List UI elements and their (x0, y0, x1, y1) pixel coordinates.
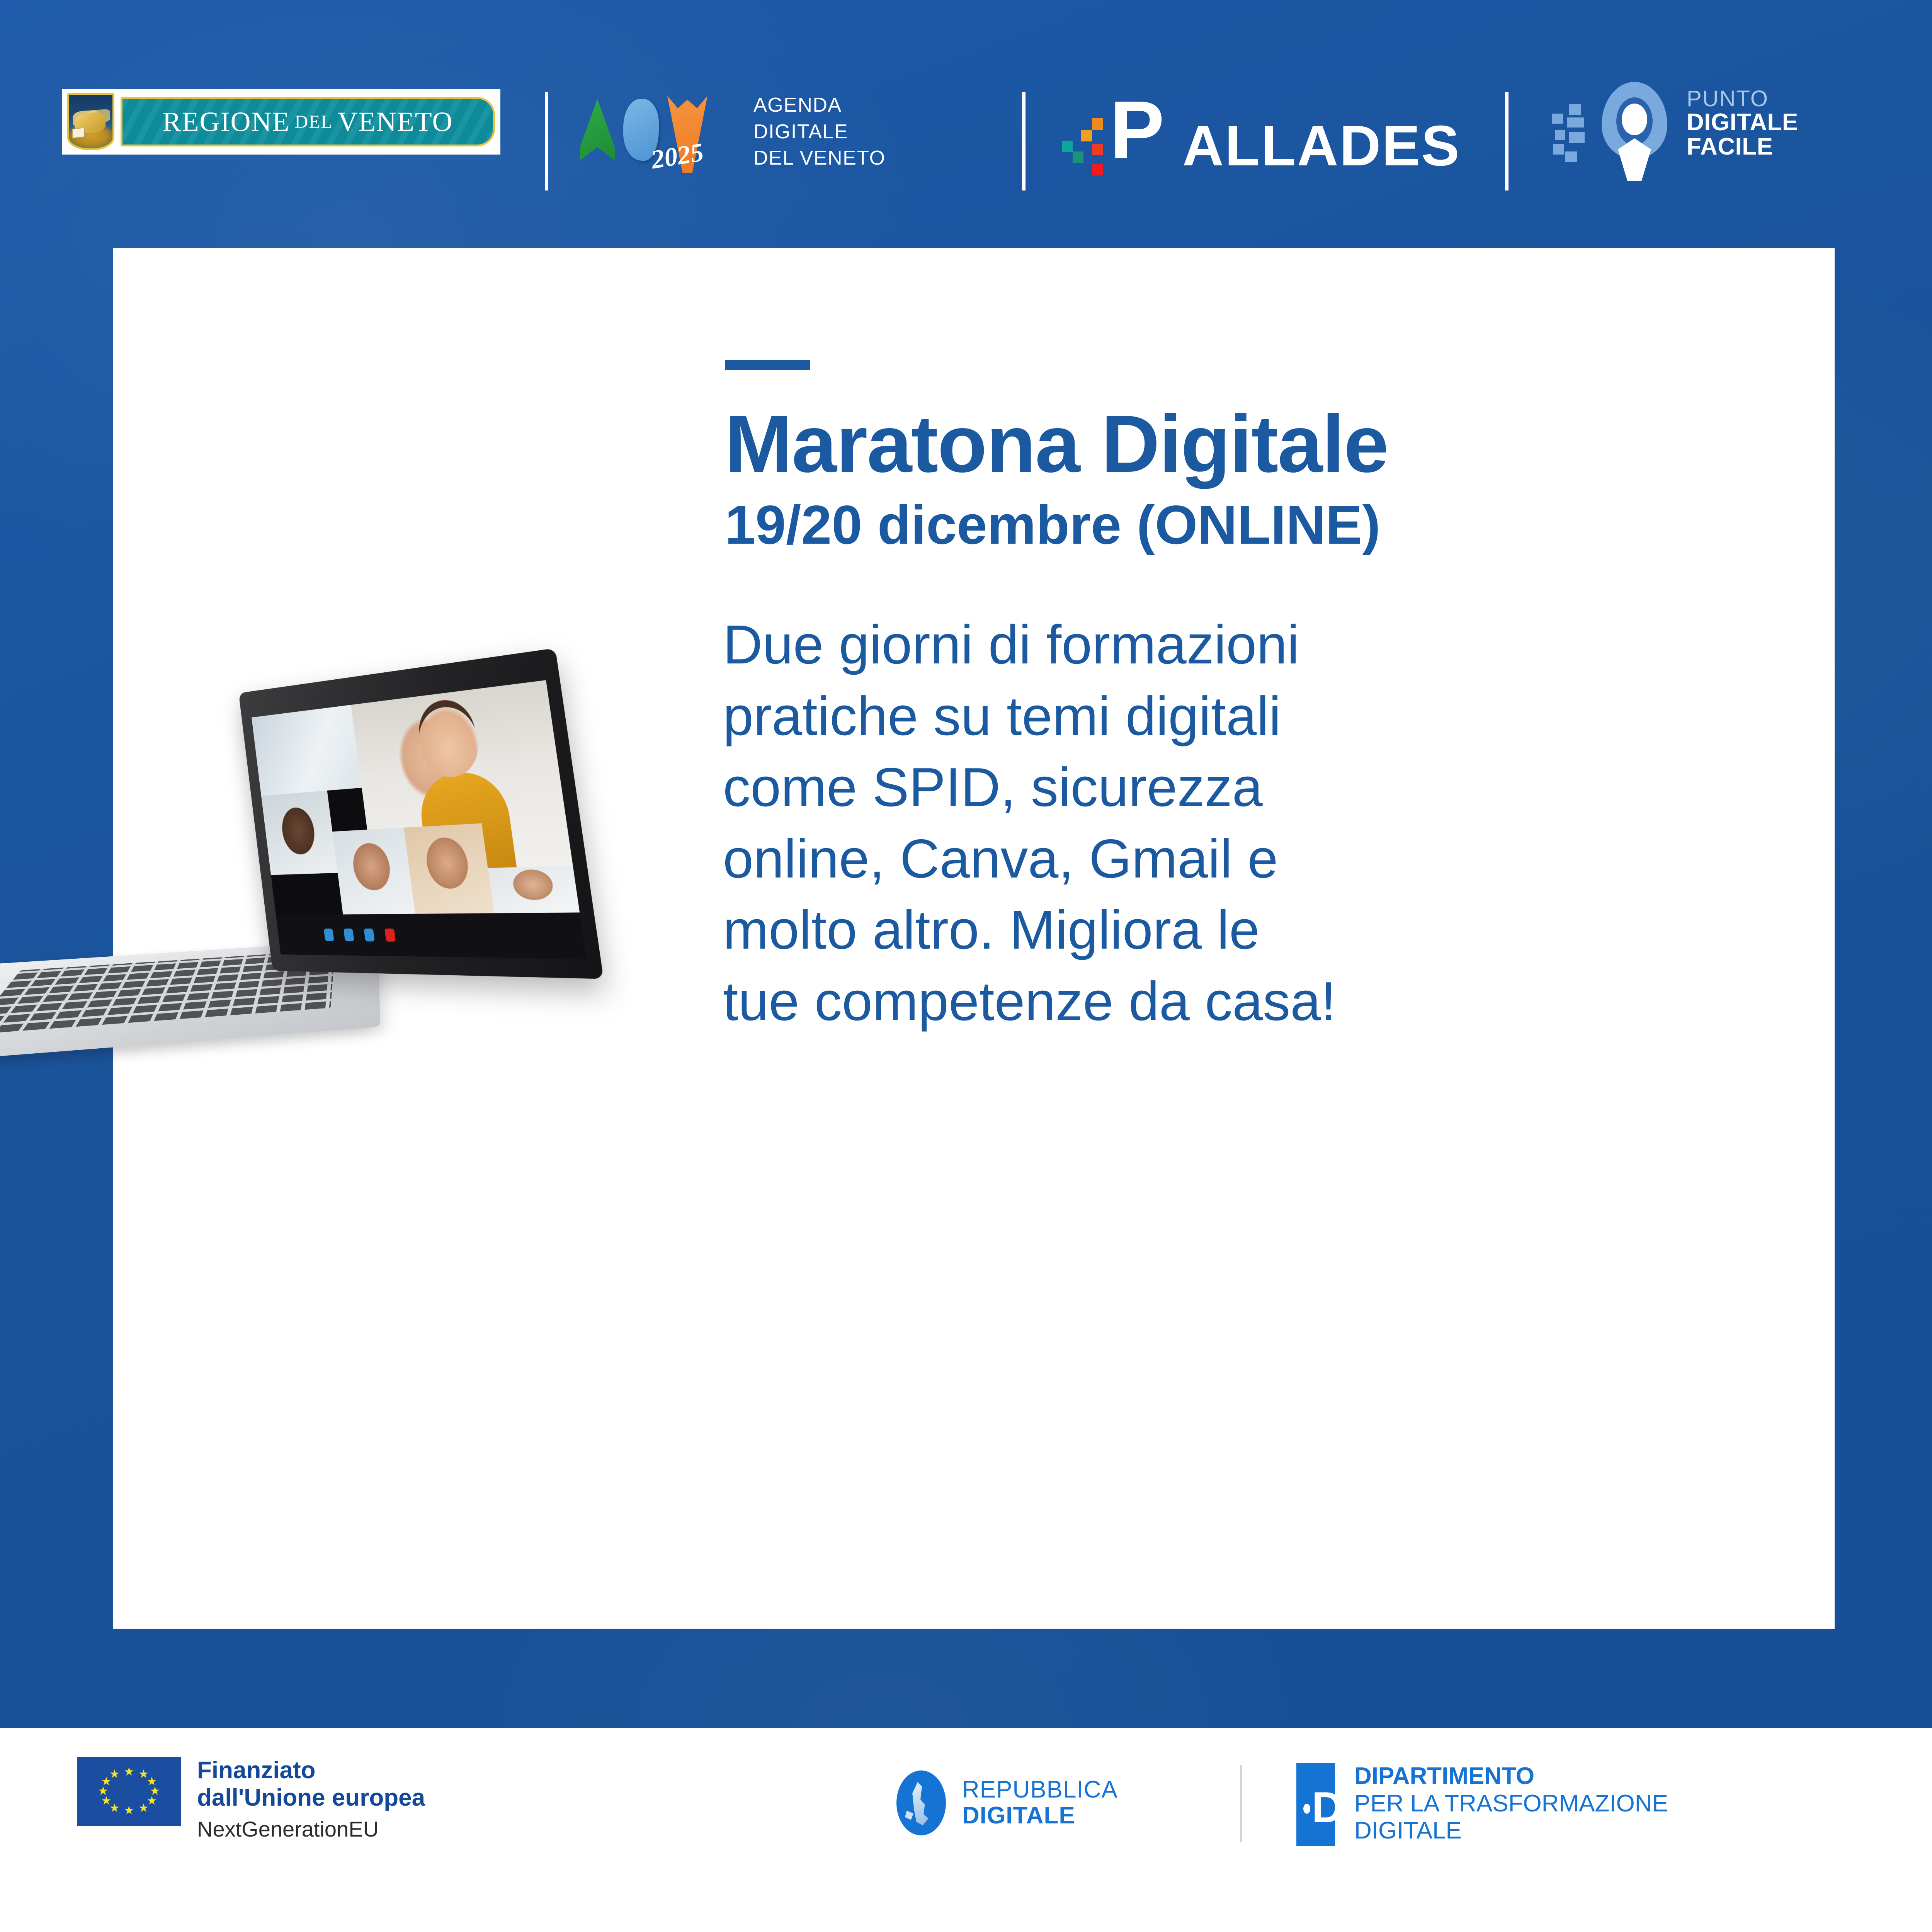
adv-mark-icons: 2025 (578, 90, 752, 164)
rd-line-2: DIGITALE (962, 1803, 1118, 1829)
video-camera-icon (344, 929, 354, 941)
eu-line-2: dall'Unione europea (197, 1784, 425, 1812)
dtd-line-2: PER LA TRASFORMAZIONE (1354, 1790, 1668, 1818)
adv-line-3: DEL VENETO (753, 145, 886, 172)
punto-digitale-facile-logo: PUNTO DIGITALE FACILE (1544, 81, 1932, 185)
body-line-5: molto altro. Migliora le (723, 895, 1670, 966)
italy-map-circle-icon (896, 1770, 946, 1835)
body-paragraph: Due giorni di formazioni pratiche su tem… (723, 609, 1670, 1037)
video-tile-participant-3 (404, 823, 494, 914)
pdf-pixel-cluster-icon (1544, 100, 1594, 170)
european-union-flag-icon: ★ ★ ★ ★ ★ ★ ★ ★ ★ ★ ★ ★ (77, 1757, 181, 1826)
header-logo-bar: REGIONE DEL VENETO 2025 AGENDA DIGITALE … (0, 70, 1932, 197)
share-screen-icon (364, 929, 374, 941)
sicily-island-shape (905, 1811, 913, 1820)
video-background-window (252, 705, 362, 796)
header-divider-3 (1505, 92, 1509, 190)
pdf-line-1: PUNTO (1687, 87, 1798, 110)
microphone-icon (324, 929, 334, 941)
end-call-icon (384, 929, 396, 942)
video-call-toolbar (276, 912, 587, 959)
dtd-line-3: DIGITALE (1354, 1817, 1668, 1845)
laptop-screen (252, 680, 580, 915)
page-title: Maratona Digitale (725, 403, 1807, 485)
dipartimento-trasformazione-digitale-logo: D DIPARTIMENTO PER LA TRASFORMAZIONE DIG… (1296, 1763, 1668, 1846)
body-line-6: tue competenze da casa! (723, 966, 1670, 1037)
del-word: DEL (295, 111, 333, 133)
adv-green-a-icon (580, 99, 615, 161)
agenda-digitale-del-veneto-logo: 2025 AGENDA DIGITALE DEL VENETO (578, 88, 964, 181)
pdf-text-block: PUNTO DIGITALE FACILE (1687, 87, 1798, 159)
dtd-line-1: DIPARTIMENTO (1354, 1763, 1668, 1790)
italy-peninsula-shape (910, 1782, 930, 1825)
body-line-4: online, Canva, Gmail e (723, 823, 1670, 895)
finanziato-dallunione-europea-logo: ★ ★ ★ ★ ★ ★ ★ ★ ★ ★ ★ ★ Finanziato dall'… (77, 1757, 425, 1844)
page-subtitle: 19/20 dicembre (ONLINE) (725, 497, 1807, 553)
pdf-line-2: DIGITALE (1687, 110, 1798, 134)
pallades-initial-letter: P (1110, 89, 1162, 171)
footer-divider (1240, 1765, 1242, 1842)
dtd-text-block: DIPARTIMENTO PER LA TRASFORMAZIONE DIGIT… (1354, 1763, 1668, 1845)
adv-text-block: AGENDA DIGITALE DEL VENETO (753, 92, 886, 172)
regione-del-veneto-logo: REGIONE DEL VENETO (62, 89, 500, 155)
eu-line-1: Finanziato (197, 1757, 425, 1784)
veneto-word: VENETO (338, 106, 453, 138)
main-content-card: Maratona Digitale 19/20 dicembre (ONLINE… (113, 248, 1835, 1629)
repubblica-digitale-logo: REPUBBLICA DIGITALE (896, 1770, 1118, 1835)
map-pin-person-icon (1594, 82, 1675, 182)
pdf-line-3: FACILE (1687, 134, 1798, 159)
adv-line-2: DIGITALE (753, 119, 886, 145)
laptop-lid (239, 648, 604, 979)
accent-dash (725, 360, 810, 370)
rd-line-1: REPUBBLICA (962, 1777, 1118, 1803)
eu-line-3: NextGenerationEU (197, 1815, 425, 1844)
eu-text-block: Finanziato dall'Unione europea NextGener… (197, 1757, 425, 1844)
video-tile-participant-4 (488, 866, 580, 913)
header-divider-2 (1022, 92, 1026, 190)
dtd-letter-d: D (1312, 1786, 1343, 1829)
body-line-3: come SPID, sicurezza (723, 752, 1670, 823)
regione-veneto-wordmark: REGIONE DEL VENETO (121, 97, 495, 146)
repubblica-digitale-text-block: REPUBBLICA DIGITALE (962, 1777, 1118, 1829)
adv-line-1: AGENDA (753, 92, 886, 119)
header-divider-1 (545, 92, 548, 190)
dtd-monogram-icon: D (1296, 1763, 1335, 1846)
lion-of-saint-mark-crest-icon (67, 93, 114, 150)
poster-root: REGIONE DEL VENETO 2025 AGENDA DIGITALE … (0, 0, 1932, 1932)
pallades-wordmark: ALLADES (1182, 117, 1461, 175)
video-tile-participant-1 (261, 791, 337, 875)
video-tile-participant-2 (332, 828, 415, 915)
body-line-1: Due giorni di formazioni (723, 609, 1670, 681)
body-line-2: pratiche su temi digitali (723, 681, 1670, 752)
open-book-shape (72, 128, 85, 138)
regione-word: REGIONE (163, 106, 290, 138)
footer-logo-bar: ★ ★ ★ ★ ★ ★ ★ ★ ★ ★ ★ ★ Finanziato dall'… (0, 1728, 1932, 1932)
laptop-video-call-photo (0, 665, 731, 1284)
pallades-logo: P ALLADES (1059, 86, 1476, 179)
dtd-dot-shape (1303, 1804, 1310, 1814)
